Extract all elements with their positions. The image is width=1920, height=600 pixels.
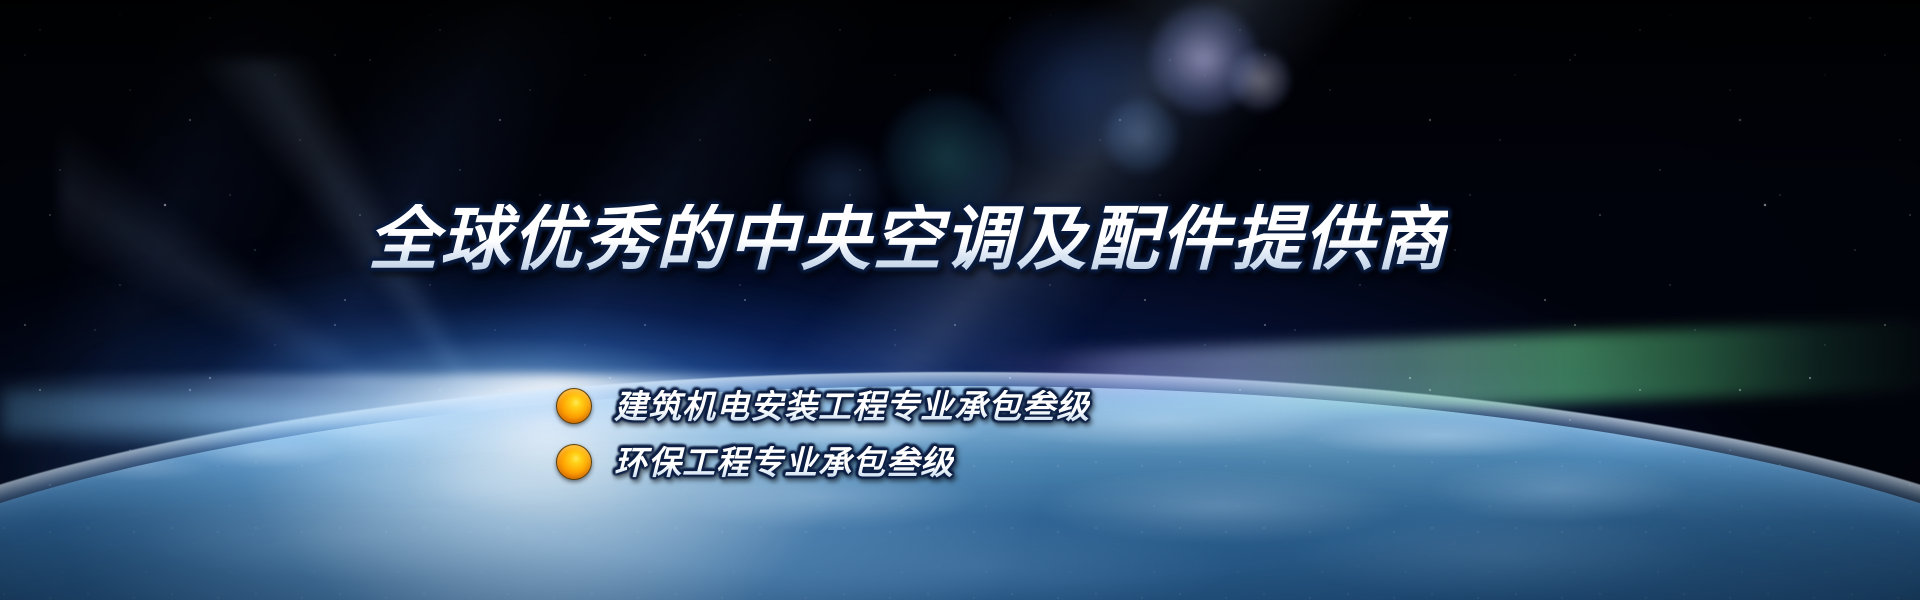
bullet-label: 建筑机电安装工程专业承包叁级 [614,390,1090,423]
banner-content: 全球优秀的中央空调及配件提供商 建筑机电安装工程专业承包叁级 环保工程专业承包叁… [0,0,1920,600]
bullet-dot-icon [556,444,592,480]
bullet-label: 环保工程专业承包叁级 [614,446,954,479]
list-item: 环保工程专业承包叁级 [556,434,1090,490]
hero-banner: 全球优秀的中央空调及配件提供商 建筑机电安装工程专业承包叁级 环保工程专业承包叁… [0,0,1920,600]
list-item: 建筑机电安装工程专业承包叁级 [556,378,1090,434]
banner-headline: 全球优秀的中央空调及配件提供商 [368,204,1448,274]
banner-bullet-list: 建筑机电安装工程专业承包叁级 环保工程专业承包叁级 [556,378,1090,490]
bullet-dot-icon [556,388,592,424]
